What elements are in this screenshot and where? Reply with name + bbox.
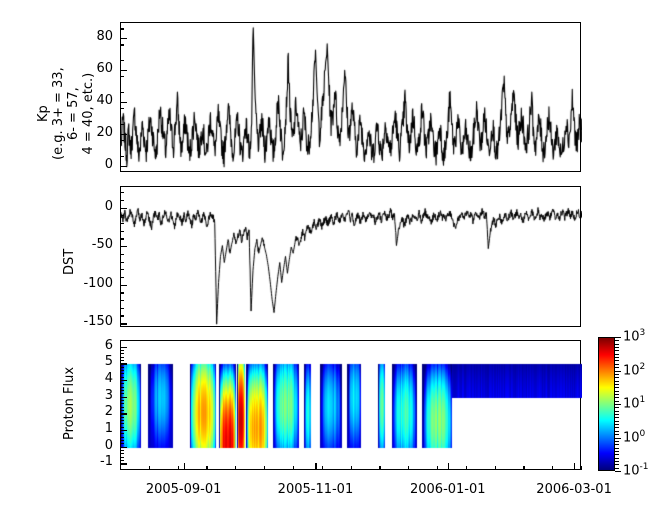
colorbar-tick-label: 103	[623, 328, 645, 344]
kp-label-line-0: Kp	[36, 67, 51, 160]
dst-minor-tick	[120, 192, 124, 193]
proton-flux-ytick-label: 6	[84, 338, 113, 353]
colorbar-minor-tick	[615, 424, 619, 425]
x-axis-minor-tick	[351, 466, 352, 470]
colorbar-minor-tick	[615, 384, 619, 385]
colorbar-minor-tick	[615, 350, 619, 351]
proton-flux-minor-tick	[120, 443, 124, 444]
x-axis-minor-tick	[466, 466, 467, 470]
proton-flux-ytick-label: 3	[84, 388, 113, 403]
kp-minor-tick	[120, 44, 124, 45]
x-axis-minor-tick	[552, 466, 553, 470]
proton-flux-minor-tick	[120, 453, 124, 454]
proton-flux-minor-tick	[120, 383, 124, 384]
x-axis-minor-tick	[293, 466, 294, 470]
proton-flux-major-tick	[120, 380, 127, 381]
colorbar-minor-tick	[615, 464, 619, 465]
colorbar-major-tick	[615, 337, 621, 338]
colorbar-minor-tick	[615, 391, 619, 392]
colorbar-gradient	[599, 338, 614, 470]
proton-flux-minor-tick	[120, 437, 124, 438]
dst-minor-tick	[120, 269, 124, 270]
proton-flux-ytick-label: 2	[84, 404, 113, 419]
dst-ytick-label: -150	[74, 314, 113, 329]
x-axis-minor-tick	[206, 466, 207, 470]
kp-minor-tick	[120, 156, 124, 157]
dst-major-tick	[120, 246, 127, 247]
proton-flux-ytick-label: 0	[84, 438, 113, 453]
kp-ytick-label: 80	[80, 29, 113, 44]
x-axis-major-tick	[448, 463, 449, 470]
kp-axis-label: Kp (e.g. 3+ = 33, 6- = 57, 4 = 40, etc.)	[36, 67, 96, 160]
colorbar-major-tick	[615, 371, 621, 372]
colorbar-minor-tick	[615, 414, 619, 415]
colorbar-minor-tick	[615, 444, 619, 445]
colorbar-minor-tick	[615, 411, 619, 412]
colorbar-minor-tick	[615, 441, 619, 442]
dst-minor-tick	[120, 300, 124, 301]
colorbar-minor-tick	[615, 448, 619, 449]
x-axis-minor-tick	[264, 466, 265, 470]
dst-minor-tick	[120, 223, 124, 224]
colorbar-minor-tick	[615, 357, 619, 358]
colorbar-minor-tick	[615, 354, 619, 355]
dst-minor-tick	[120, 231, 124, 232]
dst-minor-tick	[120, 200, 124, 201]
proton-flux-axis-label: Proton Flux	[62, 367, 77, 440]
proton-flux-major-tick	[120, 430, 127, 431]
proton-flux-major-tick	[120, 397, 127, 398]
x-axis-minor-tick	[495, 466, 496, 470]
kp-major-tick	[120, 134, 127, 135]
dst-major-tick	[120, 208, 127, 209]
dst-minor-tick	[120, 277, 124, 278]
colorbar-minor-tick	[615, 381, 619, 382]
proton-flux-spectrogram-canvas	[121, 341, 582, 471]
proton-flux-major-tick	[120, 413, 127, 414]
colorbar-minor-tick	[615, 360, 619, 361]
colorbar-minor-tick	[615, 431, 619, 432]
proton-flux-major-tick	[120, 447, 127, 448]
kp-major-tick	[120, 38, 127, 39]
proton-flux-major-tick	[120, 463, 127, 464]
proton-flux-minor-tick	[120, 370, 124, 371]
proton-flux-ytick-label: 4	[84, 371, 113, 386]
colorbar-tick-label: 101	[623, 395, 645, 411]
colorbar-minor-tick	[615, 454, 619, 455]
proton-flux-minor-tick	[120, 367, 124, 368]
kp-minor-tick	[120, 28, 124, 29]
x-axis-minor-tick	[379, 466, 380, 470]
x-axis-tick-label: 2006-01-01	[393, 482, 503, 497]
x-axis-tick-label: 2005-09-01	[129, 482, 239, 497]
colorbar-minor-tick	[615, 364, 619, 365]
kp-major-tick	[120, 166, 127, 167]
kp-minor-tick	[120, 140, 124, 141]
proton-flux-minor-tick	[120, 460, 124, 461]
kp-major-tick	[120, 70, 127, 71]
colorbar-tick-label: 10-1	[623, 462, 649, 478]
colorbar-minor-tick	[615, 468, 619, 469]
colorbar-minor-tick	[615, 394, 619, 395]
colorbar-tick-label: 100	[623, 429, 645, 445]
dst-minor-tick	[120, 308, 124, 309]
dst-minor-tick	[120, 215, 124, 216]
proton-flux-minor-tick	[120, 440, 124, 441]
x-axis-major-tick	[315, 463, 316, 470]
colorbar-tick-label: 102	[623, 362, 645, 378]
dst-major-tick	[120, 323, 127, 324]
colorbar-minor-tick	[615, 427, 619, 428]
proton-flux-minor-tick	[120, 433, 124, 434]
x-axis-major-tick	[574, 463, 575, 470]
proton-flux-minor-tick	[120, 373, 124, 374]
colorbar-minor-tick	[615, 367, 619, 368]
colorbar-tick-mantissa: 10	[623, 463, 640, 478]
colorbar-minor-tick	[615, 417, 619, 418]
proton-flux-ytick-label: 5	[84, 354, 113, 369]
proton-flux-minor-tick	[120, 407, 124, 408]
kp-line-canvas	[121, 23, 582, 173]
dst-minor-tick	[120, 292, 124, 293]
kp-minor-tick	[120, 92, 124, 93]
kp-label-line-2: 6- = 57,	[66, 67, 81, 160]
colorbar-minor-tick	[615, 347, 619, 348]
colorbar-tick-mantissa: 10	[623, 363, 640, 378]
proton-flux-minor-tick	[120, 420, 124, 421]
colorbar-tick-exponent: 1	[640, 395, 646, 405]
x-axis-minor-tick	[120, 466, 121, 470]
kp-minor-tick	[120, 76, 124, 77]
dst-line-canvas	[121, 187, 582, 328]
x-axis-major-tick	[184, 463, 185, 470]
dst-minor-tick	[120, 254, 124, 255]
colorbar-minor-tick	[615, 340, 619, 341]
colorbar-tick-mantissa: 10	[623, 329, 640, 344]
colorbar-tick-exponent: -1	[640, 462, 649, 472]
proton-flux-minor-tick	[120, 390, 124, 391]
x-axis-minor-tick	[408, 466, 409, 470]
x-axis-minor-tick	[437, 466, 438, 470]
proton-flux-minor-tick	[120, 427, 124, 428]
proton-flux-minor-tick	[120, 350, 124, 351]
x-axis-minor-tick	[235, 466, 236, 470]
x-axis-tick-label: 2006-03-01	[519, 482, 629, 497]
kp-minor-tick	[120, 108, 124, 109]
kp-label-line-1: (e.g. 3+ = 33,	[51, 67, 66, 160]
colorbar-minor-tick	[615, 458, 619, 459]
dst-ytick-label: -100	[74, 276, 113, 291]
colorbar-tick-exponent: 0	[640, 429, 646, 439]
proton-flux-minor-tick	[120, 423, 124, 424]
colorbar	[598, 337, 615, 471]
colorbar-minor-tick	[615, 377, 619, 378]
colorbar-minor-tick	[615, 407, 619, 408]
colorbar-minor-tick	[615, 434, 619, 435]
proton-flux-minor-tick	[120, 417, 124, 418]
x-axis-minor-tick	[322, 466, 323, 470]
colorbar-minor-tick	[615, 344, 619, 345]
kp-plot-panel	[120, 22, 581, 172]
kp-minor-tick	[120, 124, 124, 125]
proton-flux-minor-tick	[120, 393, 124, 394]
colorbar-minor-tick	[615, 421, 619, 422]
colorbar-major-tick	[615, 404, 621, 405]
proton-flux-major-tick	[120, 347, 127, 348]
kp-label-line-3: 4 = 40, etc.)	[81, 67, 96, 160]
dst-ytick-label: 0	[74, 199, 113, 214]
dst-minor-tick	[120, 315, 124, 316]
colorbar-minor-tick	[615, 451, 619, 452]
colorbar-major-tick	[615, 438, 621, 439]
proton-flux-minor-tick	[120, 353, 124, 354]
colorbar-minor-tick	[615, 401, 619, 402]
proton-flux-minor-tick	[120, 357, 124, 358]
proton-flux-minor-tick	[120, 450, 124, 451]
dst-plot-panel	[120, 186, 581, 327]
proton-flux-minor-tick	[120, 403, 124, 404]
colorbar-minor-tick	[615, 461, 619, 462]
dst-minor-tick	[120, 262, 124, 263]
x-axis-minor-tick	[523, 466, 524, 470]
proton-flux-ytick-label: -1	[84, 454, 113, 469]
colorbar-minor-tick	[615, 374, 619, 375]
colorbar-tick-exponent: 2	[640, 362, 646, 372]
proton-flux-minor-tick	[120, 387, 124, 388]
figure-root: 020406080 Kp (e.g. 3+ = 33, 6- = 57, 4 =…	[0, 0, 665, 523]
dst-axis-label: DST	[62, 249, 77, 275]
dst-ytick-label: -50	[74, 237, 113, 252]
colorbar-major-tick	[615, 471, 621, 472]
x-axis-minor-tick	[178, 466, 179, 470]
colorbar-tick-mantissa: 10	[623, 396, 640, 411]
proton-flux-minor-tick	[120, 410, 124, 411]
colorbar-minor-tick	[615, 387, 619, 388]
colorbar-minor-tick	[615, 397, 619, 398]
proton-flux-major-tick	[120, 363, 127, 364]
dst-minor-tick	[120, 238, 124, 239]
proton-flux-plot-panel	[120, 340, 581, 470]
colorbar-tick-mantissa: 10	[623, 430, 640, 445]
kp-minor-tick	[120, 60, 124, 61]
x-axis-minor-tick	[149, 466, 150, 470]
proton-flux-minor-tick	[120, 400, 124, 401]
proton-flux-minor-tick	[120, 360, 124, 361]
dst-major-tick	[120, 285, 127, 286]
x-axis-tick-label: 2005-11-01	[260, 482, 370, 497]
proton-flux-minor-tick	[120, 457, 124, 458]
colorbar-tick-exponent: 3	[640, 328, 646, 338]
proton-flux-ytick-label: 1	[84, 421, 113, 436]
x-axis-minor-tick	[581, 466, 582, 470]
kp-major-tick	[120, 102, 127, 103]
proton-flux-minor-tick	[120, 377, 124, 378]
